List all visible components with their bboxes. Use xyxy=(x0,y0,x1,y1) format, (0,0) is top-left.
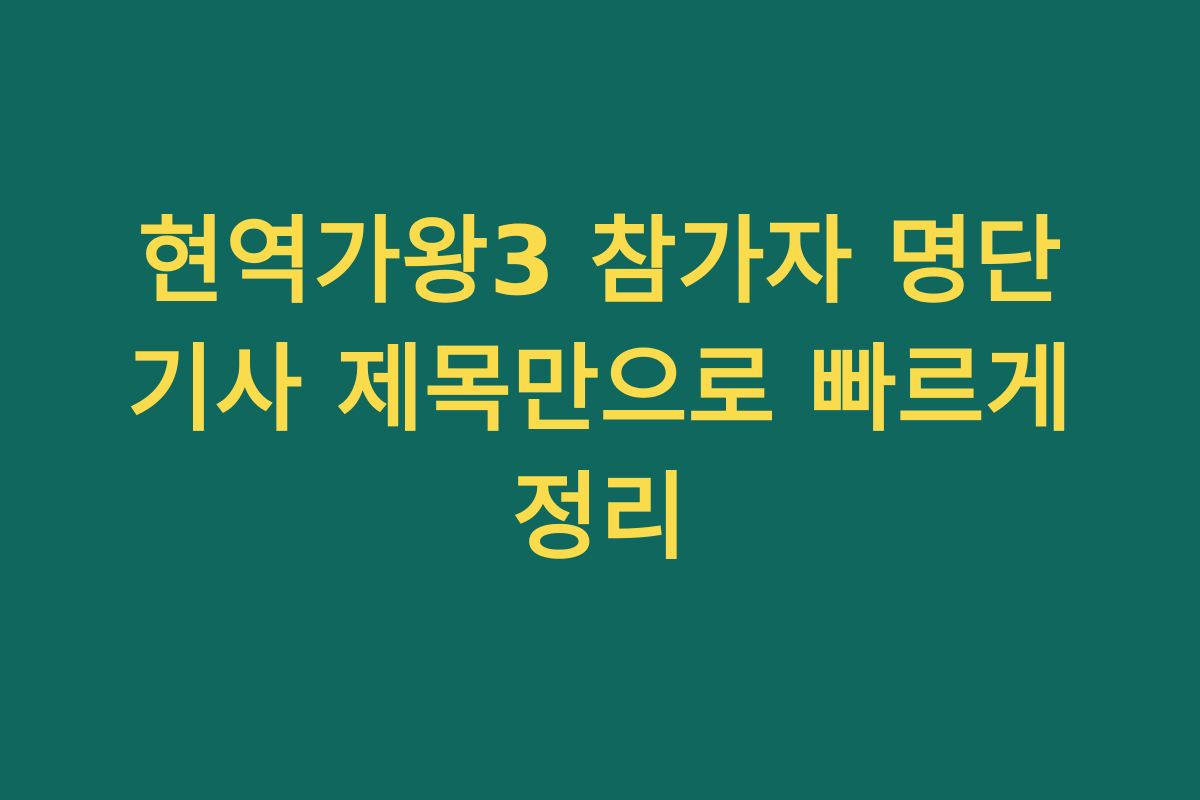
title-line-2: 기사 제목만으로 빠르게 xyxy=(40,326,1160,454)
thumbnail-card: 현역가왕3 참가자 명단 기사 제목만으로 빠르게 정리 xyxy=(0,0,1200,800)
title-block: 현역가왕3 참가자 명단 기사 제목만으로 빠르게 정리 xyxy=(0,198,1200,582)
title-line-3: 정리 xyxy=(40,454,1160,582)
title-line-1: 현역가왕3 참가자 명단 xyxy=(40,198,1160,326)
